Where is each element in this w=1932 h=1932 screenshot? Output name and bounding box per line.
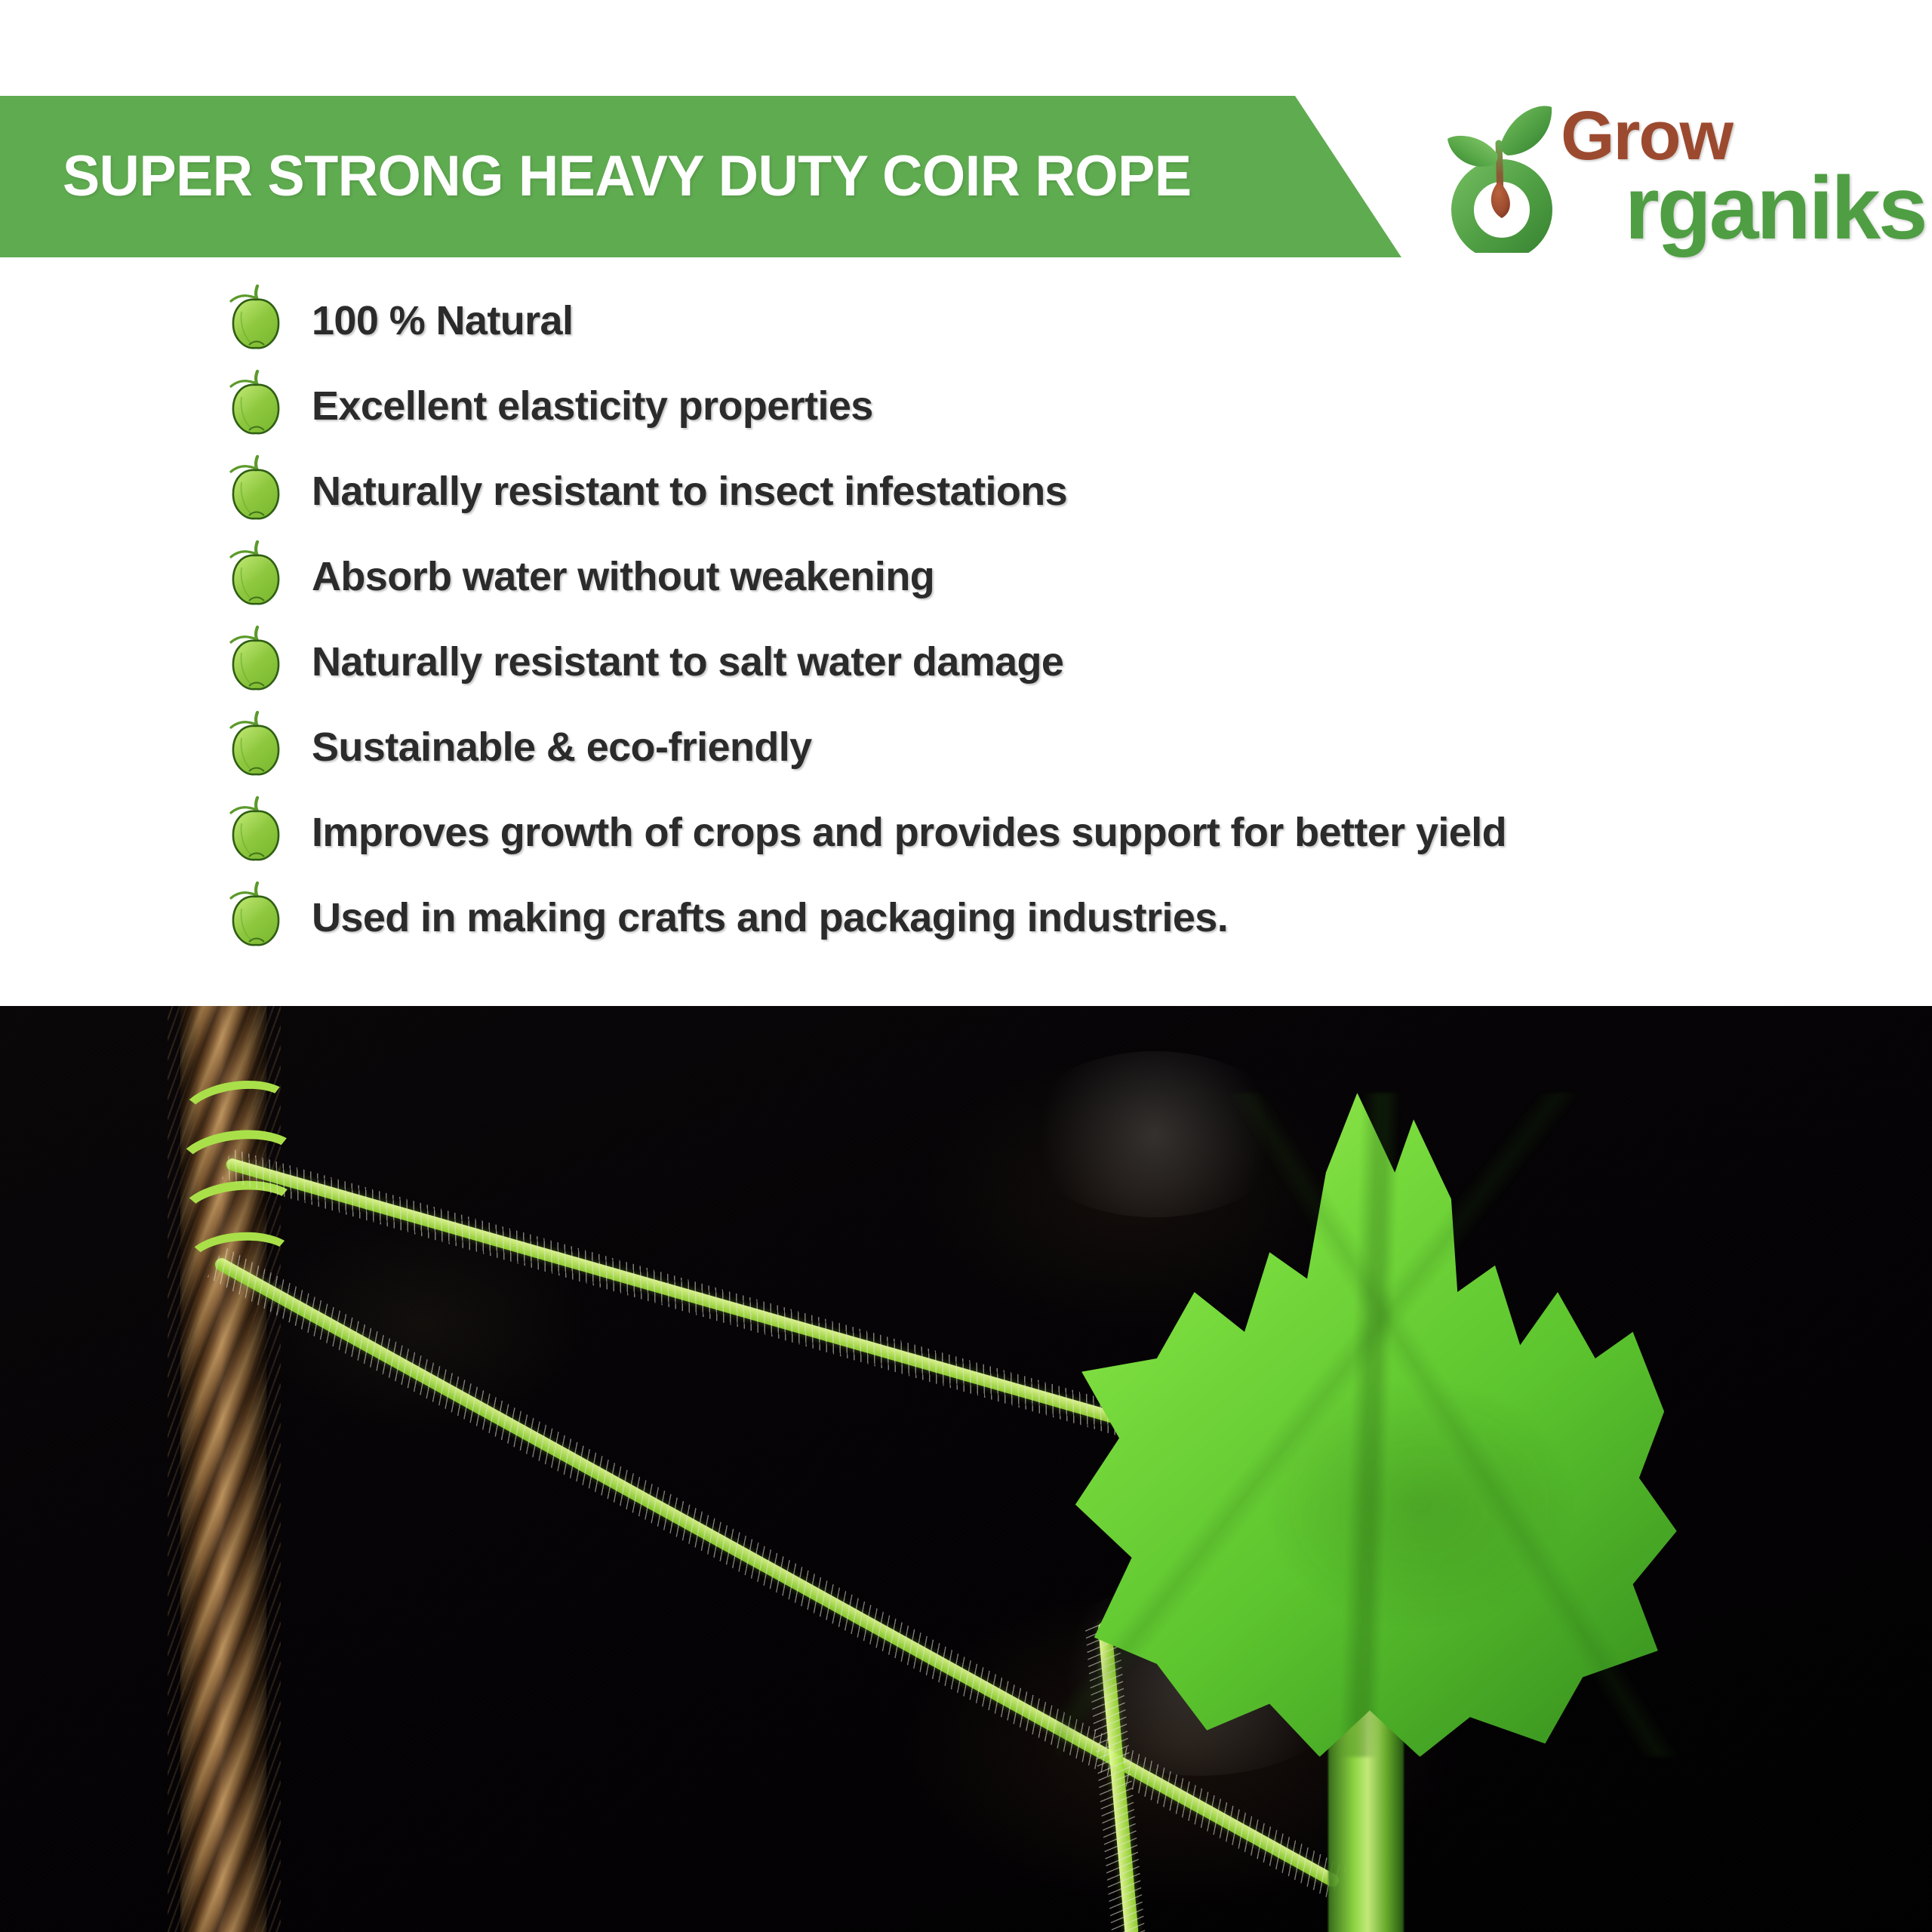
green-apple-icon xyxy=(226,452,285,521)
list-item: Used in making crafts and packaging indu… xyxy=(0,875,1811,960)
header-zone: SUPER STRONG HEAVY DUTY COIR ROPE xyxy=(0,0,1932,1006)
green-apple-icon xyxy=(226,708,285,777)
logo-wordmark: Grow Organiks xyxy=(1561,92,1900,254)
page-title: SUPER STRONG HEAVY DUTY COIR ROPE xyxy=(63,143,1192,209)
leaf-veins xyxy=(1057,1093,1683,1757)
logo-organiks-remainder: rganiks xyxy=(1625,158,1926,258)
list-item: Absorb water without weakening xyxy=(0,534,1811,619)
green-apple-icon xyxy=(226,793,285,863)
list-item: 100 % Natural xyxy=(0,278,1811,363)
feature-label: Naturally resistant to insect infestatio… xyxy=(312,468,1067,515)
feature-label: Improves growth of crops and provides su… xyxy=(312,809,1506,856)
list-item: Naturally resistant to salt water damage xyxy=(0,619,1811,704)
product-infographic-poster: SUPER STRONG HEAVY DUTY COIR ROPE xyxy=(0,0,1932,1932)
feature-label: Absorb water without weakening xyxy=(312,553,934,600)
coir-rope-with-climbing-plant-photo xyxy=(0,1006,1932,1932)
plant-leaf xyxy=(1004,1093,1728,1932)
green-apple-icon xyxy=(226,623,285,692)
green-apple-icon xyxy=(226,878,285,948)
feature-label: 100 % Natural xyxy=(312,297,573,344)
brand-logo: Grow Organiks xyxy=(1434,92,1902,254)
feature-label: Excellent elasticity properties xyxy=(312,383,873,429)
feature-label: Used in making crafts and packaging indu… xyxy=(312,894,1228,941)
list-item: Sustainable & eco-friendly xyxy=(0,704,1811,789)
list-item: Excellent elasticity properties xyxy=(0,363,1811,448)
feature-list: 100 % Natural Excellent elasticity prope… xyxy=(0,278,1811,960)
green-apple-icon xyxy=(226,537,285,607)
green-apple-icon xyxy=(226,367,285,436)
logo-text-organiks: Organiks xyxy=(1558,157,1926,260)
list-item: Improves growth of crops and provides su… xyxy=(0,789,1811,875)
sprout-in-ring-icon xyxy=(1434,98,1570,253)
green-apple-icon xyxy=(226,281,285,351)
feature-label: Sustainable & eco-friendly xyxy=(312,724,812,771)
list-item: Naturally resistant to insect infestatio… xyxy=(0,448,1811,534)
feature-label: Naturally resistant to salt water damage xyxy=(312,638,1063,685)
